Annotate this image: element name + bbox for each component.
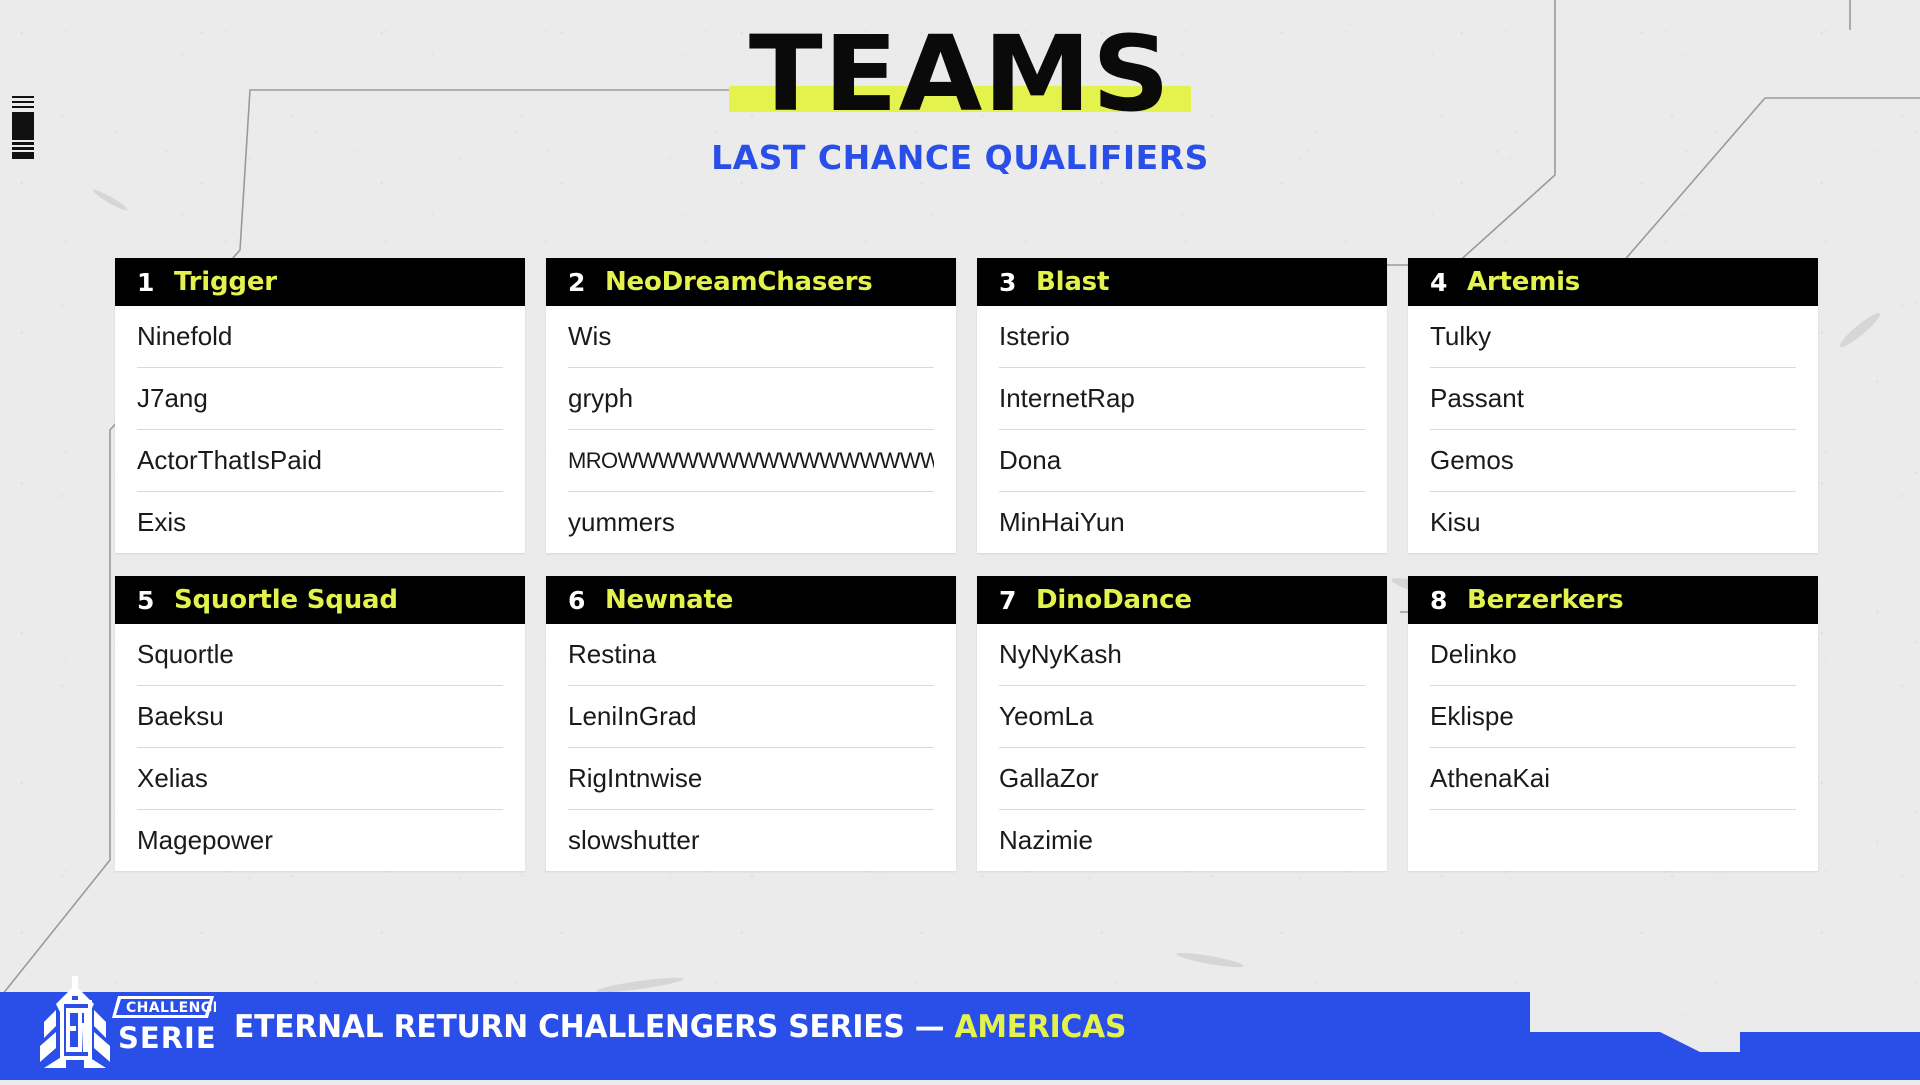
player-list: SquortleBaeksuXeliasMagepower — [115, 624, 525, 871]
player-row: Passant — [1430, 368, 1796, 430]
bottom-banner: CHALLENGERS SERIES ETERNAL RETURN CHALLE… — [0, 970, 1920, 1080]
page-title: TEAMS — [749, 22, 1171, 126]
team-card: 7DinoDanceNyNyKashYeomLaGallaZorNazimie — [977, 576, 1387, 871]
player-row: Xelias — [137, 748, 503, 810]
team-card-header: 6Newnate — [546, 576, 956, 624]
team-card-header: 7DinoDance — [977, 576, 1387, 624]
banner-title-region: AMERICAS — [955, 1009, 1127, 1045]
banner-title-main: ETERNAL RETURN CHALLENGERS SERIES — — [234, 1009, 955, 1045]
team-card: 5Squortle SquadSquortleBaeksuXeliasMagep… — [115, 576, 525, 871]
team-rank: 6 — [568, 586, 592, 615]
svg-text:SERIES: SERIES — [118, 1021, 216, 1055]
player-row: gryph — [568, 368, 934, 430]
team-name: Newnate — [605, 585, 733, 615]
team-card-header: 4Artemis — [1408, 258, 1818, 306]
team-card: 6NewnateRestinaLeniInGradRigIntnwiseslow… — [546, 576, 956, 871]
team-name: Blast — [1036, 267, 1109, 297]
player-row: AthenaKai — [1430, 748, 1796, 810]
page-subtitle: LAST CHANCE QUALIFIERS — [0, 138, 1920, 177]
player-row: Wis — [568, 306, 934, 368]
player-row: Dona — [999, 430, 1365, 492]
player-row: Magepower — [137, 810, 503, 871]
player-row: Exis — [137, 492, 503, 553]
team-card: 4ArtemisTulkyPassantGemosKisu — [1408, 258, 1818, 553]
team-name: Trigger — [174, 267, 277, 297]
player-row: Baeksu — [137, 686, 503, 748]
team-rank: 1 — [137, 268, 161, 297]
team-rank: 4 — [1430, 268, 1454, 297]
player-row: ActorThatIsPaid — [137, 430, 503, 492]
team-name: NeoDreamChasers — [605, 267, 872, 297]
player-row: InternetRap — [999, 368, 1365, 430]
svg-text:CHALLENGERS: CHALLENGERS — [126, 1000, 216, 1016]
team-rank: 8 — [1430, 586, 1454, 615]
team-name: Squortle Squad — [174, 585, 398, 615]
player-list: RestinaLeniInGradRigIntnwiseslowshutter — [546, 624, 956, 871]
player-row: YeomLa — [999, 686, 1365, 748]
player-row: Gemos — [1430, 430, 1796, 492]
team-rank: 2 — [568, 268, 592, 297]
player-row: MinHaiYun — [999, 492, 1365, 553]
player-row: J7ang — [137, 368, 503, 430]
player-row: Eklispe — [1430, 686, 1796, 748]
player-row: NyNyKash — [999, 624, 1365, 686]
player-row: Tulky — [1430, 306, 1796, 368]
team-rank: 7 — [999, 586, 1023, 615]
team-card: 3BlastIsterioInternetRapDonaMinHaiYun — [977, 258, 1387, 553]
team-card: 8BerzerkersDelinkoEklispeAthenaKai — [1408, 576, 1818, 871]
player-list: WisgryphMROWWWWWWWWWWWWWWWWyummers — [546, 306, 956, 553]
player-row: Restina — [568, 624, 934, 686]
player-list: TulkyPassantGemosKisu — [1408, 306, 1818, 553]
player-row: MROWWWWWWWWWWWWWWWW — [568, 430, 934, 492]
player-row: Ninefold — [137, 306, 503, 368]
player-row: Isterio — [999, 306, 1365, 368]
team-card: 2NeoDreamChasersWisgryphMROWWWWWWWWWWWWW… — [546, 258, 956, 553]
team-card-header: 2NeoDreamChasers — [546, 258, 956, 306]
player-row: Squortle — [137, 624, 503, 686]
player-list: NinefoldJ7angActorThatIsPaidExis — [115, 306, 525, 553]
player-row: Kisu — [1430, 492, 1796, 553]
player-row: LeniInGrad — [568, 686, 934, 748]
team-rank: 5 — [137, 586, 161, 615]
team-card-header: 8Berzerkers — [1408, 576, 1818, 624]
banner-title: ETERNAL RETURN CHALLENGERS SERIES — AMER… — [234, 1009, 1126, 1045]
player-row: slowshutter — [568, 810, 934, 871]
player-row-empty — [1430, 810, 1796, 871]
team-name: DinoDance — [1036, 585, 1192, 615]
teams-grid: 1TriggerNinefoldJ7angActorThatIsPaidExis… — [115, 258, 1815, 871]
player-list: NyNyKashYeomLaGallaZorNazimie — [977, 624, 1387, 871]
team-card-header: 3Blast — [977, 258, 1387, 306]
player-list: DelinkoEklispeAthenaKai — [1408, 624, 1818, 871]
team-card: 1TriggerNinefoldJ7angActorThatIsPaidExis — [115, 258, 525, 553]
player-row: yummers — [568, 492, 934, 553]
team-card-header: 5Squortle Squad — [115, 576, 525, 624]
team-card-header: 1Trigger — [115, 258, 525, 306]
team-name: Berzerkers — [1467, 585, 1623, 615]
team-name: Artemis — [1467, 267, 1580, 297]
player-row: RigIntnwise — [568, 748, 934, 810]
player-list: IsterioInternetRapDonaMinHaiYun — [977, 306, 1387, 553]
challengers-series-logo: CHALLENGERS SERIES — [26, 970, 216, 1080]
page-header: TEAMS LAST CHANCE QUALIFIERS — [0, 0, 1920, 177]
player-row: Nazimie — [999, 810, 1365, 871]
title-block: TEAMS — [757, 22, 1163, 126]
team-rank: 3 — [999, 268, 1023, 297]
player-row: Delinko — [1430, 624, 1796, 686]
player-row: GallaZor — [999, 748, 1365, 810]
